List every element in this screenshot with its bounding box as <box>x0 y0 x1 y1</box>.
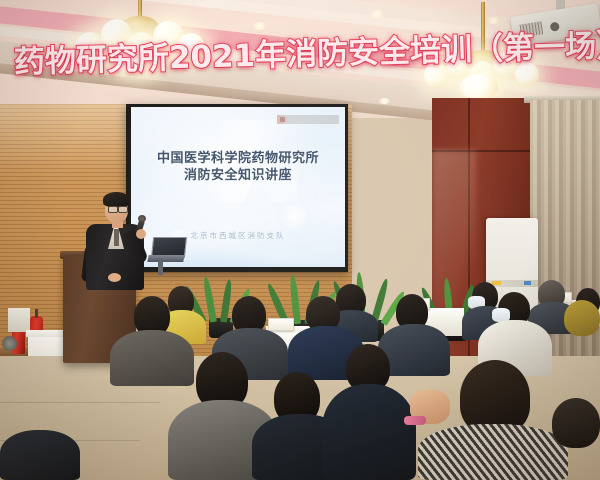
downlight <box>252 22 267 30</box>
audience-member-body <box>0 430 80 480</box>
slide-corner-badge <box>277 115 339 124</box>
slide-title-line2: 消防安全知识讲座 <box>131 167 345 184</box>
name-card <box>268 318 294 331</box>
eyeglasses-icon <box>108 206 118 213</box>
downlight <box>378 98 391 104</box>
audience-member <box>460 360 530 434</box>
laptop-stand <box>158 261 163 275</box>
audience-member <box>552 398 600 448</box>
presenter-hand <box>136 229 146 239</box>
extinguisher-nozzle <box>35 309 38 318</box>
floor-seam <box>0 402 160 403</box>
downlight <box>370 10 384 18</box>
audience-member <box>564 300 600 336</box>
chandelier-globe <box>460 74 498 100</box>
presenter-hand <box>108 273 121 282</box>
fire-hose-reel <box>2 336 17 351</box>
slide-title: 中国医学科学院药物研究所 消防安全知识讲座 <box>131 150 345 184</box>
laptop-keyboard <box>147 255 184 262</box>
microphone-head <box>138 215 146 222</box>
equipment-cloth <box>8 308 30 332</box>
eyeglasses-icon <box>118 206 128 213</box>
slide-badge-mark <box>280 117 285 122</box>
audience-member-body <box>418 424 568 480</box>
presenter-hair <box>103 192 130 207</box>
conference-room-photo: 中国医学科学院药物研究所 消防安全知识讲座 北京市西城区消防支队 <box>0 0 600 480</box>
ac-indicator-light <box>524 281 531 285</box>
presenter-tie <box>114 229 119 246</box>
wrist-band <box>404 416 426 425</box>
audience-member-body <box>322 384 416 480</box>
slide-snowflake-graphic <box>277 199 311 233</box>
audience-member-body <box>110 330 194 386</box>
slide-title-line1: 中国医学科学院药物研究所 <box>131 150 345 167</box>
